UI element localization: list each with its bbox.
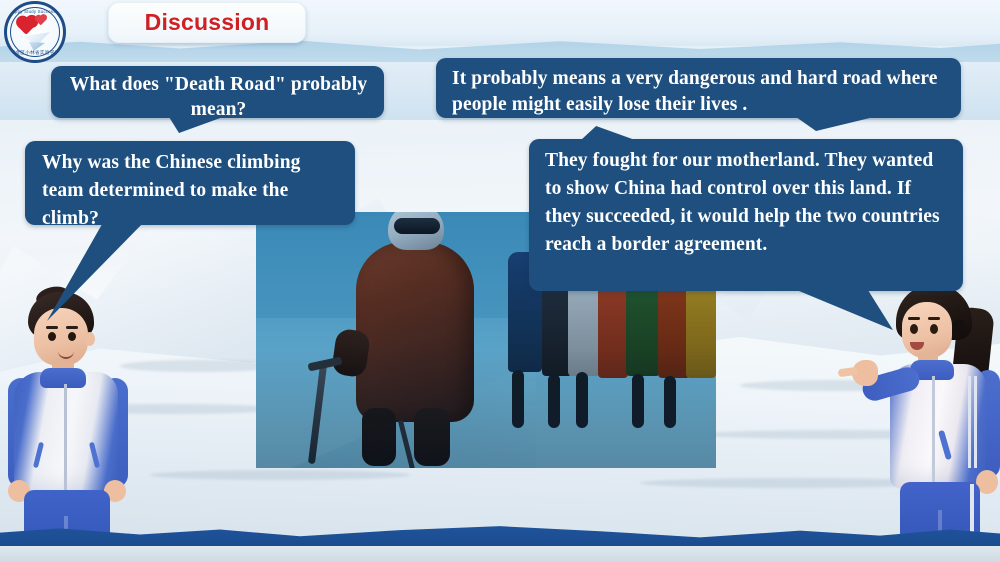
heart-icon <box>18 17 36 35</box>
boy-ear <box>84 332 95 346</box>
speech-bubble-question-2-text: Why was the Chinese climbing team determ… <box>42 149 341 233</box>
boy-student <box>6 292 134 542</box>
girl-eye-right <box>930 324 938 334</box>
speech-bubble-tail <box>169 117 223 133</box>
speech-bubble-tail <box>796 117 874 131</box>
speech-bubble-question-1[interactable]: What does "Death Road" probably mean? <box>51 66 384 118</box>
speech-bubble-question-2[interactable]: Why was the Chinese climbing team determ… <box>25 141 355 225</box>
boy-eye-left <box>48 332 56 341</box>
page-title: Discussion <box>145 9 270 36</box>
girl-eye-left <box>910 324 918 334</box>
speech-bubble-answer-2[interactable]: They fought for our motherland. They wan… <box>529 139 963 291</box>
girl-hair-tie <box>952 320 966 332</box>
speech-bubble-answer-2-text: They fought for our motherland. They wan… <box>545 147 949 259</box>
speech-bubble-answer-1-text: It probably means a very dangerous and h… <box>452 66 949 118</box>
girl-sleeve-stripe <box>968 376 971 468</box>
girl-sleeve-stripe <box>974 376 977 468</box>
girl-jacket-zipper <box>932 376 935 484</box>
boy-eye-right <box>68 332 76 341</box>
photo-bottom-shade <box>256 348 716 468</box>
bottom-strip <box>0 546 1000 562</box>
girl-eyebrow-left <box>908 317 920 320</box>
boy-collar <box>40 368 86 388</box>
school-badge-logo: Happy Study Successful 新会区小林省实验学校 <box>4 1 66 63</box>
paper-plane-wing-icon <box>29 42 45 51</box>
slide-stage: Happy Study Successful 新会区小林省实验学校 Discus… <box>0 0 1000 562</box>
logo-inner-art <box>15 12 55 52</box>
girl-student <box>876 284 1000 542</box>
boy-eyebrow-left <box>46 326 58 329</box>
boy-jacket-zipper <box>64 384 67 492</box>
page-title-box: Discussion <box>108 2 306 43</box>
speech-bubble-question-1-text: What does "Death Road" probably mean? <box>67 72 370 122</box>
speech-bubble-answer-1[interactable]: It probably means a very dangerous and h… <box>436 58 961 118</box>
boy-eyebrow-right <box>66 326 78 329</box>
snow-texture-line <box>150 470 410 480</box>
girl-eyebrow-right <box>928 317 940 320</box>
